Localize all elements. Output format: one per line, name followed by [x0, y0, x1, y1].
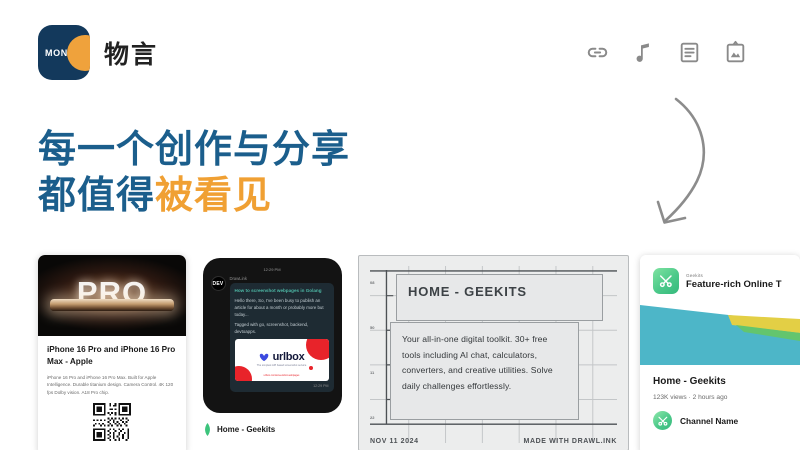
preview-card-strip: PRO iPhone 16 Pro and iPhone 16 Pro Max …	[0, 255, 800, 450]
card-link-preview-body: iPhone 16 Pro and iPhone 16 Pro Max - Ap…	[38, 336, 186, 447]
chat-username: DrawLink	[230, 276, 334, 281]
preview-red-blob-top	[306, 339, 329, 360]
thumbnail-artwork	[640, 299, 800, 365]
image-clipboard-icon[interactable]	[723, 40, 748, 65]
video-channel-row[interactable]: Channel Name	[653, 411, 787, 430]
sketch-tick-0: 08	[370, 280, 386, 285]
urlbox-url: urlbox.com/screenshot-webpages	[235, 374, 329, 377]
sketch-tick-3: 22	[370, 415, 386, 420]
headline-line-2: 都值得被看见	[38, 174, 350, 220]
chat-link-preview-image[interactable]: urlbox The simplest API based screenshot…	[235, 339, 329, 381]
headline-line-1: 每一个创作与分享	[38, 128, 350, 174]
thumbnail-headline: Feature-rich Online T	[686, 279, 782, 290]
logo-orange-blob	[67, 35, 90, 71]
sketch-body-box: Your all-in-one digital toolkit. 30+ fre…	[390, 322, 579, 420]
urlbox-subtitle: The simplest API based screenshot servic…	[235, 364, 329, 368]
video-meta: 123K views · 2 hours ago	[653, 394, 787, 401]
landing-page: MON 物言	[0, 0, 800, 450]
urlbox-bird-icon	[259, 353, 270, 362]
channel-avatar	[653, 411, 672, 430]
iphone-device-silhouette	[50, 299, 174, 311]
sketch-title: HOME - GEEKITS	[397, 275, 602, 299]
chat-tags-text: Tagged with go, screenshot, backend, dev…	[235, 322, 329, 336]
phone-device-frame: 12:29 PM DEV DrawLink How to screenshot …	[203, 258, 342, 413]
thumbnail-title-block: Geekits Feature-rich Online T	[686, 273, 782, 290]
sketch-tick-1: 50	[370, 325, 386, 330]
sketch-tick-2: 11	[370, 370, 386, 375]
header-icon-row	[585, 40, 748, 65]
chat-message-text: Hello there, So, I've been busy to publi…	[235, 298, 329, 319]
sketch-body-text: Your all-in-one digital toolkit. 30+ fre…	[402, 332, 567, 395]
sketch-axis-ticks: 08 50 11 22	[370, 280, 386, 420]
music-note-icon[interactable]	[631, 40, 656, 65]
headline-line-2-plain: 都值得	[38, 175, 155, 217]
chat-bubble-wrapper: DrawLink How to screenshot webpages in G…	[230, 276, 334, 392]
link-preview-description: iPhone 16 Pro and iPhone 16 Pro Max. Bui…	[47, 374, 177, 396]
card-phone-footer: Home - Geekits	[197, 413, 347, 436]
urlbox-wordmark: urlbox	[273, 351, 305, 363]
chat-message-row: DEV DrawLink How to screenshot webpages …	[211, 276, 334, 392]
video-title[interactable]: Home - Geekits	[653, 376, 787, 387]
video-card-body: Home - Geekits 123K views · 2 hours ago …	[640, 365, 800, 430]
sketch-date: NOV 11 2024	[370, 438, 419, 445]
chat-link-title[interactable]: How to screenshot webpages in Golang	[235, 288, 329, 295]
sketch-credit: MADE WITH DRAWL.INK	[524, 438, 617, 445]
phone-status-time: 12:29 PM	[211, 267, 334, 272]
chat-bubble: How to screenshot webpages in Golang Hel…	[230, 283, 334, 392]
hero-headline: 每一个创作与分享 都值得被看见	[38, 128, 350, 219]
brand-lockup[interactable]: MON 物言	[38, 25, 158, 80]
document-icon[interactable]	[677, 40, 702, 65]
dev-avatar-icon: DEV	[211, 276, 226, 291]
geekits-tools-icon	[653, 268, 679, 294]
iphone-hero-image: PRO	[38, 255, 186, 336]
link-icon[interactable]	[585, 40, 610, 65]
sketch-inner: 08 50 11 22 HOME - GEEKITS Your all-in-o…	[370, 266, 617, 443]
card-sketch-drawl[interactable]: 08 50 11 22 HOME - GEEKITS Your all-in-o…	[358, 255, 629, 450]
sketch-title-box: HOME - GEEKITS	[396, 274, 603, 321]
mon-app-logo-icon: MON	[38, 25, 90, 80]
logo-mark-text: MON	[45, 48, 68, 58]
headline-line-2-accent: 被看见	[155, 175, 272, 217]
card-link-preview[interactable]: PRO iPhone 16 Pro and iPhone 16 Pro Max …	[38, 255, 186, 450]
card-phone-mockup[interactable]: 12:29 PM DEV DrawLink How to screenshot …	[197, 255, 347, 450]
thumbnail-kicker: Geekits	[686, 273, 782, 278]
brand-name: 物言	[104, 35, 158, 71]
urlbox-logo: urlbox	[259, 351, 305, 363]
chat-sent-time: 12:29 PM	[235, 384, 329, 388]
channel-name: Channel Name	[680, 416, 738, 426]
qr-code-icon	[93, 403, 131, 441]
link-preview-title: iPhone 16 Pro and iPhone 16 Pro Max - Ap…	[47, 344, 177, 368]
curved-down-arrow-icon	[645, 88, 755, 233]
green-leaf-icon	[203, 423, 212, 436]
thumbnail-header: Geekits Feature-rich Online T	[640, 255, 800, 294]
sketch-footer: NOV 11 2024 MADE WITH DRAWL.INK	[370, 438, 617, 445]
card-phone-footer-title: Home - Geekits	[217, 425, 275, 434]
video-thumbnail: Geekits Feature-rich Online T	[640, 255, 800, 365]
card-video-preview[interactable]: Geekits Feature-rich Online T Home - Gee…	[640, 255, 800, 450]
